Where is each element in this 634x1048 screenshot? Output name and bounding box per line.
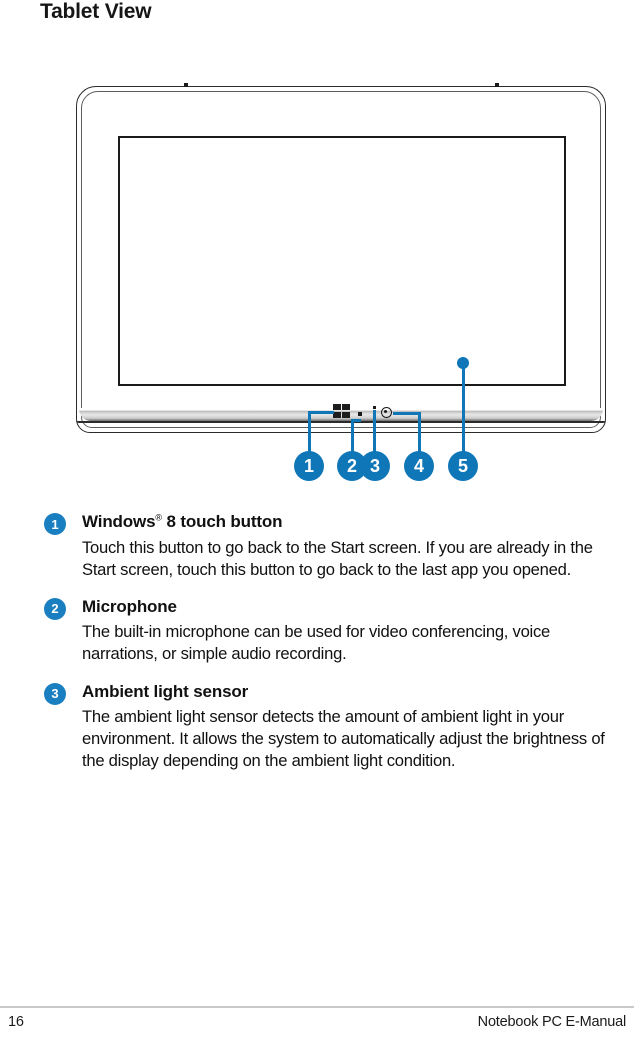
- feature-item-3-bullet-label: 3: [51, 687, 58, 700]
- callout-bubble-1[interactable]: 1: [294, 451, 324, 481]
- callout-4-leader-horizontal: [393, 412, 421, 415]
- footer-document-title: Notebook PC E-Manual: [478, 1014, 626, 1030]
- feature-item-3-body: The ambient light sensor detects the amo…: [82, 706, 624, 772]
- ambient-light-sensor-pinhole-icon: [373, 406, 376, 409]
- feature-item-3-heading: Ambient light sensor: [82, 680, 624, 705]
- feature-item-1-bullet-label: 1: [51, 518, 58, 531]
- callout-5-leader-vertical: [462, 362, 465, 454]
- feature-item-1-heading-pre: Windows: [82, 512, 155, 531]
- feature-item-2-body: The built-in microphone can be used for …: [82, 621, 624, 665]
- callout-bubble-5-label: 5: [458, 457, 468, 475]
- feature-item-2-bullet: 2: [44, 598, 66, 620]
- callout-1-leader-horizontal: [308, 411, 334, 414]
- feature-item-3: 3 Ambient light sensor The ambient light…: [44, 680, 624, 773]
- callout-4-leader-vertical: [418, 412, 421, 452]
- callout-bubble-1-label: 1: [304, 457, 314, 475]
- callout-2-leader-vertical: [351, 419, 354, 452]
- feature-item-2: 2 Microphone The built-in microphone can…: [44, 595, 624, 666]
- feature-item-1: 1 Windows® 8 touch button Touch this but…: [44, 510, 624, 581]
- tablet-bottom-edge: [77, 421, 605, 423]
- callout-1-leader-vertical: [308, 411, 311, 452]
- callout-bubble-4-label: 4: [414, 457, 424, 475]
- feature-item-1-heading-post: 8 touch button: [162, 512, 283, 531]
- callout-bubble-4[interactable]: 4: [404, 451, 434, 481]
- feature-item-1-heading: Windows® 8 touch button: [82, 510, 624, 535]
- footer-page-number: 16: [8, 1014, 24, 1030]
- microphone-pinhole-icon: [358, 412, 362, 416]
- callout-3-leader-vertical: [373, 410, 376, 452]
- windows-logo-icon: [333, 404, 350, 418]
- callout-2-leader-horizontal: [351, 419, 361, 422]
- tablet-screen-panel: [118, 136, 566, 386]
- camera-icon: [381, 407, 392, 418]
- feature-item-2-heading: Microphone: [82, 595, 624, 620]
- callout-bubble-5[interactable]: 5: [448, 451, 478, 481]
- feature-item-3-bullet: 3: [44, 683, 66, 705]
- top-edge-dot-left-icon: [184, 83, 188, 87]
- feature-item-1-bullet: 1: [44, 513, 66, 535]
- footer-divider: [0, 1006, 634, 1008]
- page-title: Tablet View: [40, 0, 151, 24]
- footer: 16 Notebook PC E-Manual: [8, 1014, 626, 1030]
- callout-bubble-3-label: 3: [370, 457, 380, 475]
- top-edge-dot-right-icon: [495, 83, 499, 87]
- callout-bubble-3[interactable]: 3: [360, 451, 390, 481]
- feature-description-list: 1 Windows® 8 touch button Touch this but…: [44, 510, 624, 786]
- feature-item-2-bullet-label: 2: [51, 602, 58, 615]
- tablet-front-view-diagram: 1 2 3 4 5: [0, 70, 634, 495]
- callout-bubble-2-label: 2: [347, 457, 357, 475]
- feature-item-1-body: Touch this button to go back to the Star…: [82, 537, 624, 581]
